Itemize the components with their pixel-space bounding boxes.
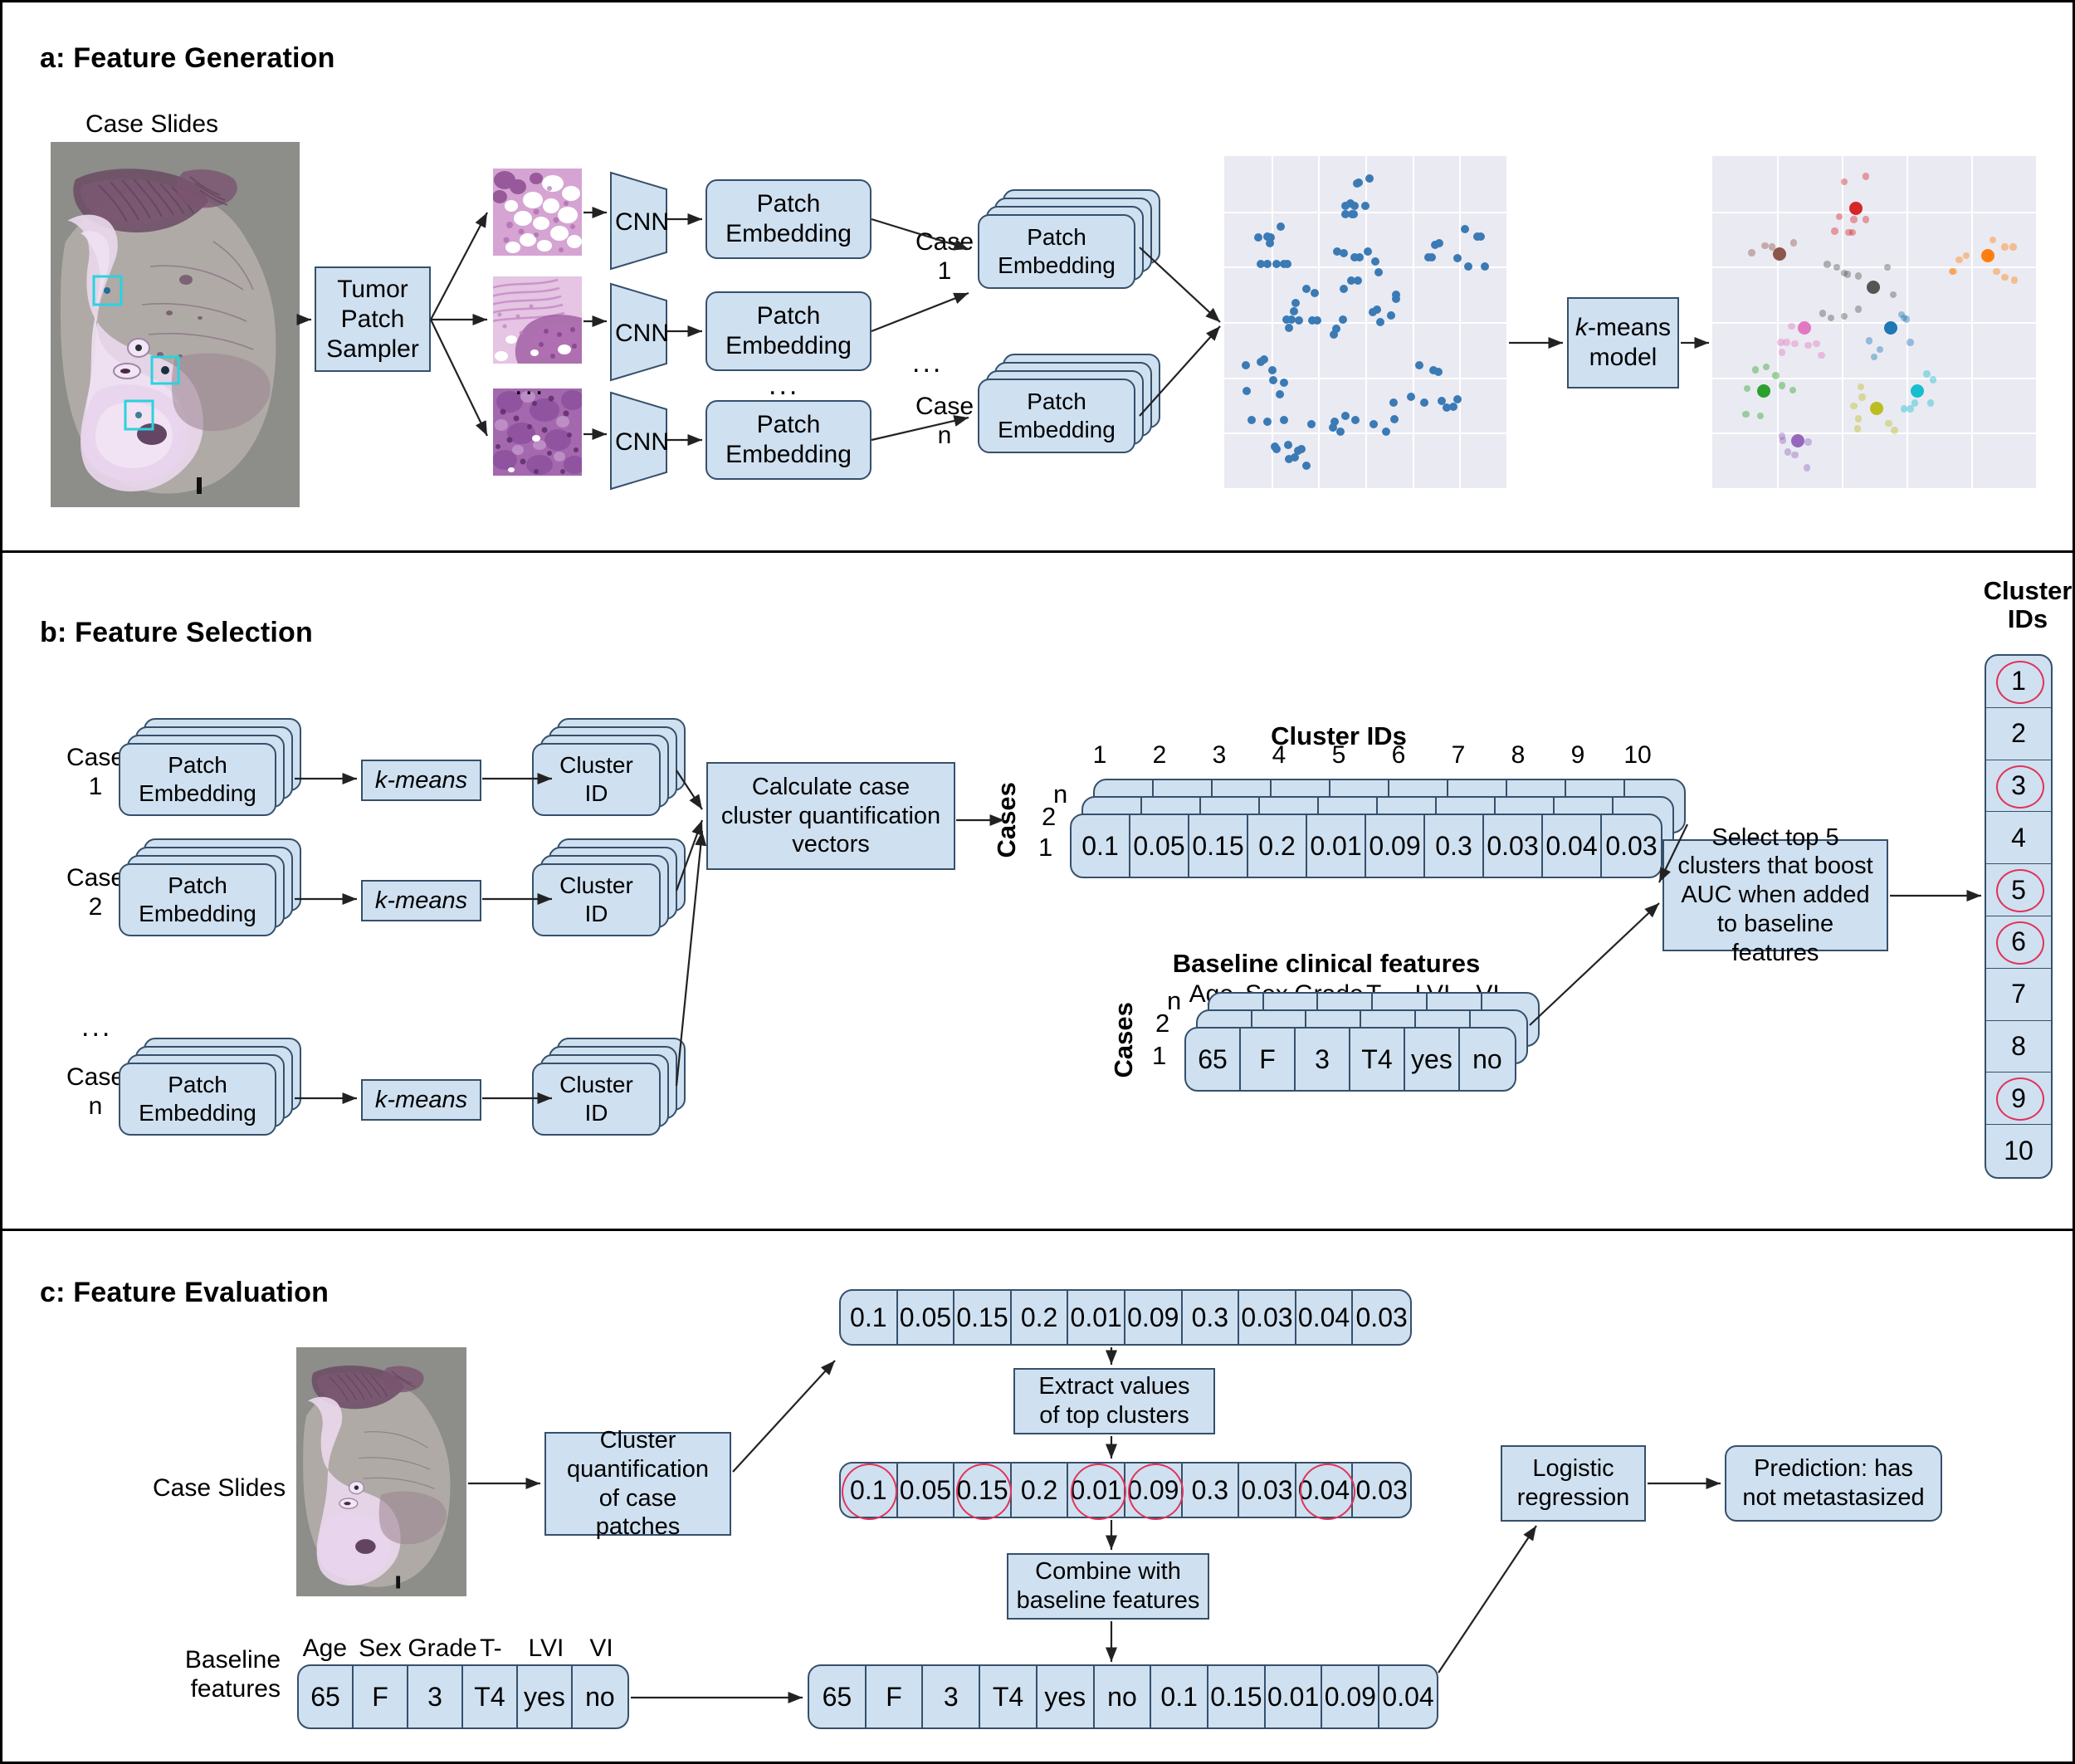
baseline-values-row-c: 65F3T4yesno bbox=[297, 1664, 629, 1729]
cluster-id-header: 3 bbox=[1189, 741, 1249, 771]
scatter-point bbox=[1340, 285, 1348, 293]
quant-vector-cell: 0.3 bbox=[1183, 1291, 1240, 1344]
scatter-point bbox=[1849, 229, 1856, 236]
baseline-header: VI bbox=[574, 1635, 629, 1664]
baseline-header-row-c: AgeSexGradeT-catLVIVI bbox=[297, 1635, 629, 1664]
scatter-point bbox=[1473, 232, 1482, 241]
clustered-scatter-plot bbox=[1712, 156, 2036, 488]
baseline-value-cell: no bbox=[1460, 1029, 1515, 1090]
quant-vector-cell: 0.15 bbox=[1189, 815, 1248, 877]
cluster-id-value: 10 bbox=[2004, 1136, 2033, 1166]
scatter-point bbox=[1280, 416, 1288, 424]
kmeans-box-b3: k-means bbox=[361, 1079, 481, 1121]
baseline-value-cell: 3 bbox=[1296, 1029, 1350, 1090]
quant-vector-cell: 0.01 bbox=[1068, 1463, 1125, 1517]
cases-row-label-2-2: 2 bbox=[1155, 1009, 1169, 1038]
scatter-point bbox=[1464, 262, 1472, 271]
patch-embedding-stack-front: Patch Embedding bbox=[978, 379, 1135, 453]
quant-vector-cell: 0.1 bbox=[1072, 815, 1130, 877]
case-n-label-a: Case n bbox=[907, 393, 982, 450]
scatter-point bbox=[1818, 352, 1824, 359]
quant-vector-cell: 0.1 bbox=[841, 1463, 898, 1517]
scatter-point bbox=[2001, 274, 2008, 281]
quant-vector-cell: 0.09 bbox=[1125, 1463, 1183, 1517]
logistic-regression-box: Logistic regression bbox=[1501, 1445, 1646, 1522]
scatter-point bbox=[1336, 428, 1345, 436]
scatter-point bbox=[1871, 354, 1877, 360]
scatter-point bbox=[1341, 202, 1350, 210]
panel-a-title: a: Feature Generation bbox=[40, 42, 335, 75]
quant-vector-cell: 0.03 bbox=[1353, 1463, 1410, 1517]
case-2-patch-stack-b: Patch Embedding bbox=[119, 838, 326, 946]
combined-vector-cell: T4 bbox=[980, 1666, 1037, 1727]
scatter-point bbox=[1330, 330, 1338, 339]
baseline-value-cell: 3 bbox=[408, 1666, 463, 1727]
baseline-header: Grade bbox=[408, 1635, 463, 1664]
panel-c-title: c: Feature Evaluation bbox=[40, 1277, 329, 1309]
gridline-horizontal bbox=[1224, 432, 1506, 434]
quant-vector-cell: 0.04 bbox=[1543, 815, 1602, 877]
patch-embedding-label: Patch Embedding bbox=[725, 189, 852, 249]
scatter-point bbox=[1387, 311, 1395, 320]
kmeans-model-box: k-means model bbox=[1567, 297, 1679, 388]
cluster-id-header: 4 bbox=[1249, 741, 1309, 771]
scatter-point bbox=[1773, 247, 1786, 261]
scatter-point bbox=[1744, 385, 1750, 392]
scatter-point bbox=[1290, 307, 1298, 315]
scatter-point bbox=[1382, 428, 1390, 436]
scatter-point bbox=[1434, 368, 1443, 376]
scatter-point bbox=[1950, 268, 1956, 275]
scatter-point bbox=[1351, 416, 1360, 424]
cluster-id-header: 9 bbox=[1548, 741, 1608, 771]
gridline-horizontal bbox=[1712, 378, 2036, 379]
scatter-point bbox=[1907, 405, 1913, 412]
scatter-point bbox=[1371, 257, 1379, 266]
cluster-id-cell: 7 bbox=[1986, 969, 2051, 1021]
panel-divider-a-b bbox=[2, 550, 2075, 553]
quant-vector-cell: 0.2 bbox=[1012, 1291, 1069, 1344]
scatter-point bbox=[1742, 411, 1749, 418]
tissue-patch-2 bbox=[493, 276, 582, 364]
gridline-horizontal bbox=[1712, 432, 2036, 434]
kmeans-box-b1: k-means bbox=[361, 760, 481, 801]
baseline-value-cell: yes bbox=[1405, 1029, 1460, 1090]
scatter-point bbox=[1247, 416, 1256, 424]
scatter-point bbox=[1863, 173, 1869, 179]
scatter-point bbox=[1833, 264, 1840, 271]
panel-a-case-ellipsis: ... bbox=[912, 347, 943, 379]
cases-axis-label-b1: Cases bbox=[992, 774, 1022, 866]
case-1-patch-stack-b: Patch Embedding bbox=[119, 718, 326, 826]
scatter-point bbox=[1355, 253, 1364, 261]
scatter-point bbox=[1341, 412, 1350, 420]
scatter-point bbox=[1884, 321, 1897, 335]
gridline-horizontal bbox=[1224, 212, 1506, 213]
patch-embedding-label: Patch Embedding bbox=[998, 223, 1116, 279]
cases-row-label-1: 1 bbox=[1038, 833, 1052, 862]
select-top5-label: Select top 5 clusters that boost AUC whe… bbox=[1677, 823, 1872, 968]
patch-embedding-label: Patch Embedding bbox=[998, 388, 1116, 443]
cluster-id-cell: 10 bbox=[1986, 1125, 2051, 1177]
scatter-point bbox=[1890, 291, 1897, 298]
scatter-point bbox=[1347, 276, 1355, 285]
scatter-point bbox=[1435, 239, 1443, 247]
case-slide-image-c bbox=[296, 1347, 466, 1596]
quant-vector-cell: 0.15 bbox=[954, 1291, 1012, 1344]
scatter-point bbox=[1828, 315, 1834, 321]
cluster-id-label: Cluster ID bbox=[559, 1071, 633, 1126]
scatter-point bbox=[1481, 262, 1489, 271]
scatter-point bbox=[2001, 243, 2008, 250]
baseline-values-row-b: 65F3T4yesno bbox=[1184, 1027, 1516, 1092]
patch-embedding-label: Patch Embedding bbox=[139, 751, 256, 807]
scatter-point bbox=[1858, 393, 1865, 400]
kmeans-italic-k: k bbox=[1575, 314, 1588, 341]
panel-a-patch-ellipsis: ... bbox=[515, 369, 545, 402]
scatter-point bbox=[1276, 390, 1284, 398]
cnn-label-2: CNN bbox=[615, 320, 669, 349]
embedding-scatter-plot bbox=[1224, 156, 1506, 488]
baseline-value-cell: yes bbox=[518, 1666, 573, 1727]
tumor-patch-sampler-box: Tumor Patch Sampler bbox=[315, 266, 431, 372]
scatter-point bbox=[1927, 399, 1934, 406]
scatter-point bbox=[1355, 178, 1363, 187]
cluster-id-value: 2 bbox=[2011, 718, 2026, 749]
gridline-horizontal bbox=[1224, 322, 1506, 324]
scatter-point bbox=[1854, 425, 1861, 432]
scatter-point bbox=[1297, 445, 1306, 453]
case-n-embedding-stack: Patch Embedding bbox=[978, 354, 1169, 462]
quant-vector-cell: 0.09 bbox=[1125, 1291, 1183, 1344]
kmeans-box-b2: k-means bbox=[361, 880, 481, 921]
cluster-id-value: 5 bbox=[2011, 875, 2026, 906]
scatter-point bbox=[1858, 384, 1864, 390]
patch-embedding-label: Patch Embedding bbox=[139, 1071, 256, 1126]
kmeans-model-label-line2: model bbox=[1589, 343, 1658, 373]
scatter-point bbox=[1772, 372, 1779, 379]
kmeans-label: k-means bbox=[375, 1086, 467, 1115]
scatter-point bbox=[1449, 403, 1457, 411]
quant-vector-cell: 0.03 bbox=[1239, 1463, 1296, 1517]
scatter-point bbox=[1428, 253, 1436, 261]
scatter-point bbox=[1291, 299, 1300, 307]
scatter-point bbox=[1757, 413, 1764, 419]
scatter-point bbox=[1364, 247, 1372, 256]
combined-vector-cell: F bbox=[867, 1666, 924, 1727]
tissue-patch-1 bbox=[493, 169, 582, 256]
combined-vector-cell: 3 bbox=[923, 1666, 980, 1727]
quant-vector-cell: 0.05 bbox=[898, 1291, 955, 1344]
cluster-id-value: 7 bbox=[2011, 979, 2026, 1009]
baseline-header: T-cat bbox=[463, 1635, 519, 1664]
quant-vector-cell: 0.03 bbox=[1353, 1291, 1410, 1344]
scatter-point bbox=[1885, 420, 1892, 427]
quant-vector-cell: 0.01 bbox=[1307, 815, 1366, 877]
scatter-point bbox=[1779, 349, 1785, 355]
scatter-point bbox=[1269, 376, 1277, 384]
scatter-point bbox=[1788, 323, 1794, 330]
combined-vector-cell: no bbox=[1095, 1666, 1152, 1727]
scatter-point bbox=[1284, 441, 1292, 449]
scatter-point bbox=[1311, 289, 1319, 297]
combine-baseline-label: Combine with baseline features bbox=[1017, 1557, 1200, 1615]
scatter-point bbox=[1849, 202, 1863, 215]
calculate-quantification-label: Calculate case cluster quantification ve… bbox=[721, 773, 940, 859]
scatter-point bbox=[1339, 315, 1347, 324]
scatter-point bbox=[1291, 453, 1299, 462]
scatter-point bbox=[1798, 321, 1811, 335]
scatter-point bbox=[1340, 249, 1348, 257]
case-n-patch-stack-b: Patch Embedding bbox=[119, 1038, 326, 1146]
patch-embedding-stack-front: Patch Embedding bbox=[119, 743, 276, 816]
scatter-point bbox=[1392, 295, 1400, 303]
cluster-id-cell: 6 bbox=[1986, 916, 2051, 969]
scatter-point bbox=[1369, 420, 1378, 428]
cluster-id-header: 6 bbox=[1369, 741, 1428, 771]
kmeans-model-label-line1: k-means bbox=[1575, 313, 1671, 343]
patch-embedding-box-a2: Patch Embedding bbox=[705, 291, 871, 371]
case-slide-image-a bbox=[51, 142, 300, 507]
baseline-value-cell: 65 bbox=[299, 1666, 354, 1727]
baseline-value-cell: 65 bbox=[1186, 1029, 1241, 1090]
cluster-id-label: Cluster ID bbox=[559, 751, 633, 807]
scatter-point bbox=[2011, 276, 2018, 283]
cluster-id-cell: 9 bbox=[1986, 1073, 2051, 1125]
scatter-point bbox=[1855, 415, 1862, 422]
scatter-point bbox=[1242, 361, 1250, 369]
scatter-point bbox=[1254, 233, 1262, 242]
scatter-point bbox=[1779, 382, 1785, 388]
scatter-point bbox=[1266, 239, 1274, 247]
quant-vector-front: 0.10.050.150.20.010.090.30.030.040.03 bbox=[1070, 814, 1662, 878]
prediction-label: Prediction: has not metastasized bbox=[1742, 1454, 1924, 1512]
cluster-id-cell: 5 bbox=[1986, 864, 2051, 916]
scatter-point bbox=[1268, 366, 1277, 374]
patch-embedding-label: Patch Embedding bbox=[725, 410, 852, 470]
scatter-point bbox=[1891, 427, 1897, 433]
cluster-id-stack-front: Cluster ID bbox=[532, 1063, 661, 1136]
scatter-point bbox=[1757, 384, 1770, 398]
scatter-point bbox=[1791, 434, 1804, 447]
scatter-point bbox=[1804, 464, 1810, 471]
scatter-point bbox=[1850, 216, 1857, 222]
scatter-point bbox=[1376, 318, 1384, 326]
figure-root: a: Feature Generation Case Slides bbox=[0, 0, 2075, 1764]
scatter-point bbox=[1761, 242, 1768, 249]
scatter-point bbox=[1831, 227, 1838, 234]
scatter-point bbox=[1302, 285, 1311, 293]
cases-axis-label-b2: Cases bbox=[1109, 994, 1139, 1086]
scatter-point bbox=[1850, 403, 1857, 409]
scatter-point bbox=[1855, 305, 1862, 312]
panel-a-case-slides-label: Case Slides bbox=[48, 110, 256, 139]
cluster-id-label: Cluster ID bbox=[559, 872, 633, 927]
cluster-id-value: 6 bbox=[2011, 926, 2026, 957]
scatter-point bbox=[1361, 202, 1369, 210]
scatter-point bbox=[1911, 384, 1924, 398]
baseline-clinical-title: Baseline clinical features bbox=[1140, 949, 1513, 979]
cluster-id-value: 4 bbox=[2011, 823, 2026, 853]
scatter-point bbox=[1923, 370, 1930, 377]
quant-vector-cell: 0.3 bbox=[1183, 1463, 1240, 1517]
scatter-point bbox=[1901, 405, 1907, 412]
baseline-header: Age bbox=[297, 1635, 353, 1664]
combined-vector-cell: 0.04 bbox=[1379, 1666, 1437, 1727]
scatter-point bbox=[1415, 361, 1423, 369]
cnn-label-1: CNN bbox=[615, 208, 669, 237]
tumor-patch-sampler-label: Tumor Patch Sampler bbox=[326, 275, 419, 364]
scatter-point bbox=[2009, 243, 2016, 250]
cluster-ids-column-title: Cluster IDs bbox=[1957, 577, 2075, 633]
cluster-id-stack-b1: Cluster ID bbox=[532, 718, 723, 826]
scatter-point bbox=[1804, 438, 1811, 445]
combined-vector-cell: 65 bbox=[809, 1666, 867, 1727]
cluster-id-stack-front: Cluster ID bbox=[532, 863, 661, 936]
baseline-value-cell: T4 bbox=[463, 1666, 518, 1727]
quant-vector-cell: 0.04 bbox=[1296, 1463, 1354, 1517]
scatter-point bbox=[1804, 342, 1811, 349]
cnn-label-3: CNN bbox=[615, 428, 669, 457]
cluster-id-cell: 3 bbox=[1986, 760, 2051, 813]
cluster-id-value: 1 bbox=[2011, 666, 2026, 696]
scatter-point bbox=[1824, 261, 1830, 267]
scatter-point bbox=[1790, 239, 1797, 246]
combine-baseline-box: Combine with baseline features bbox=[1007, 1553, 1209, 1620]
scatter-point bbox=[1981, 249, 1994, 262]
kmeans-label: k-means bbox=[375, 887, 467, 916]
cluster-id-header: 8 bbox=[1488, 741, 1548, 771]
scatter-point bbox=[1407, 393, 1415, 401]
cluster-id-stack-b3: Cluster ID bbox=[532, 1038, 723, 1146]
gridline-horizontal bbox=[1224, 378, 1506, 379]
scatter-point bbox=[1307, 420, 1316, 428]
quant-vector-cell: 0.04 bbox=[1296, 1291, 1354, 1344]
scatter-point bbox=[1813, 340, 1819, 347]
combined-vector-cell: 0.1 bbox=[1151, 1666, 1208, 1727]
scatter-point bbox=[1993, 268, 1999, 275]
cluster-id-value: 8 bbox=[2011, 1031, 2026, 1062]
scatter-point bbox=[1272, 445, 1281, 453]
cluster-id-stack-front: Cluster ID bbox=[532, 743, 661, 816]
baseline-header: Sex bbox=[353, 1635, 408, 1664]
cluster-id-header: 10 bbox=[1608, 741, 1667, 771]
scatter-point bbox=[1389, 398, 1398, 407]
scatter-point bbox=[1855, 272, 1862, 279]
calculate-quantification-box: Calculate case cluster quantification ve… bbox=[706, 762, 955, 870]
scatter-point bbox=[1884, 264, 1891, 271]
quant-vector-cell: 0.05 bbox=[898, 1463, 955, 1517]
combined-vector-cell: 0.15 bbox=[1208, 1666, 1266, 1727]
logistic-regression-label: Logistic regression bbox=[1517, 1454, 1629, 1512]
quant-vector-cell: 0.2 bbox=[1012, 1463, 1069, 1517]
gridline-horizontal bbox=[1712, 212, 2036, 213]
baseline-value-cell: no bbox=[573, 1666, 627, 1727]
scatter-point bbox=[1461, 225, 1469, 233]
scatter-point bbox=[1789, 387, 1796, 393]
cluster-id-cell: 8 bbox=[1986, 1021, 2051, 1073]
scatter-point bbox=[1302, 462, 1311, 470]
quant-vector-cell: 0.3 bbox=[1425, 815, 1484, 877]
cluster-id-header: 1 bbox=[1070, 741, 1130, 771]
combined-feature-vector: 65F3T4yesno0.10.150.010.090.04 bbox=[808, 1664, 1438, 1729]
cluster-quant-vector-circled: 0.10.050.150.20.010.090.30.030.040.03 bbox=[839, 1462, 1412, 1518]
quant-vector-cell: 0.01 bbox=[1068, 1291, 1125, 1344]
cluster-id-cell: 4 bbox=[1986, 812, 2051, 864]
gridline-horizontal bbox=[1712, 322, 2036, 324]
baseline-value-cell: F bbox=[1241, 1029, 1296, 1090]
extract-top-clusters-label: Extract values of top clusters bbox=[1038, 1372, 1189, 1430]
kmeans-rest: -means bbox=[1588, 314, 1671, 341]
combined-vector-cell: yes bbox=[1037, 1666, 1095, 1727]
scatter-point bbox=[1841, 313, 1848, 320]
baseline-header: LVI bbox=[519, 1635, 574, 1664]
cluster-quantification-box: Cluster quantification of case patches bbox=[544, 1432, 731, 1536]
quant-vector-cell: 0.09 bbox=[1366, 815, 1425, 877]
scatter-point bbox=[1783, 339, 1789, 345]
scatter-point bbox=[1374, 268, 1383, 276]
scatter-point bbox=[1955, 257, 1962, 263]
cluster-id-header: 5 bbox=[1309, 741, 1369, 771]
extract-top-clusters-box: Extract values of top clusters bbox=[1013, 1368, 1215, 1434]
scatter-point bbox=[1791, 340, 1798, 347]
cases-row-label-2: 2 bbox=[1042, 802, 1056, 832]
panel-b-title: b: Feature Selection bbox=[40, 617, 313, 649]
scatter-point bbox=[1844, 271, 1851, 277]
patch-embedding-stack-front: Patch Embedding bbox=[978, 214, 1135, 289]
scatter-point bbox=[1390, 415, 1399, 423]
quant-vector-cell: 0.03 bbox=[1484, 815, 1543, 877]
panel-b-case-ellipsis: ... bbox=[81, 1011, 112, 1043]
scatter-point bbox=[1870, 402, 1883, 415]
scatter-point bbox=[1763, 364, 1770, 370]
cluster-id-header: 7 bbox=[1428, 741, 1488, 771]
quant-vector-cell: 0.03 bbox=[1239, 1291, 1296, 1344]
scatter-point bbox=[1841, 178, 1848, 185]
scatter-point bbox=[1260, 355, 1268, 364]
panel-a-embedding-ellipsis: ... bbox=[769, 369, 799, 402]
scatter-point bbox=[1780, 437, 1786, 443]
select-top5-box: Select top 5 clusters that boost AUC whe… bbox=[1662, 839, 1888, 951]
scatter-point bbox=[1867, 281, 1880, 294]
case-1-embedding-stack: Patch Embedding bbox=[978, 189, 1169, 297]
patch-embedding-stack-front: Patch Embedding bbox=[119, 1063, 276, 1136]
scatter-point bbox=[1350, 202, 1359, 210]
cluster-id-value: 9 bbox=[2011, 1083, 2026, 1114]
scatter-point bbox=[1285, 324, 1293, 332]
cluster-id-cell: 2 bbox=[1986, 708, 2051, 760]
scatter-point bbox=[1420, 398, 1428, 407]
scatter-point bbox=[1350, 210, 1358, 218]
patch-embedding-label: Patch Embedding bbox=[725, 301, 852, 361]
baseline-value-cell: F bbox=[354, 1666, 408, 1727]
cluster-id-value: 3 bbox=[2011, 770, 2026, 801]
cluster-quant-vector-top: 0.10.050.150.20.010.090.30.030.040.03 bbox=[839, 1289, 1412, 1346]
cluster-id-header-row: 12345678910 bbox=[1070, 741, 1667, 771]
scatter-point bbox=[1963, 252, 1970, 259]
scatter-point bbox=[1863, 216, 1869, 222]
scatter-point bbox=[1369, 308, 1377, 316]
scatter-point bbox=[1243, 387, 1251, 395]
cluster-id-header: 2 bbox=[1130, 741, 1189, 771]
patch-embedding-stack-front: Patch Embedding bbox=[119, 863, 276, 936]
scatter-point bbox=[1280, 379, 1288, 387]
patch-embedding-label: Patch Embedding bbox=[139, 872, 256, 927]
cases-row-label-1-2: 1 bbox=[1152, 1041, 1166, 1071]
cluster-id-cell: 1 bbox=[1986, 656, 2051, 708]
scatter-point bbox=[1819, 310, 1826, 316]
scatter-point bbox=[1280, 260, 1288, 268]
